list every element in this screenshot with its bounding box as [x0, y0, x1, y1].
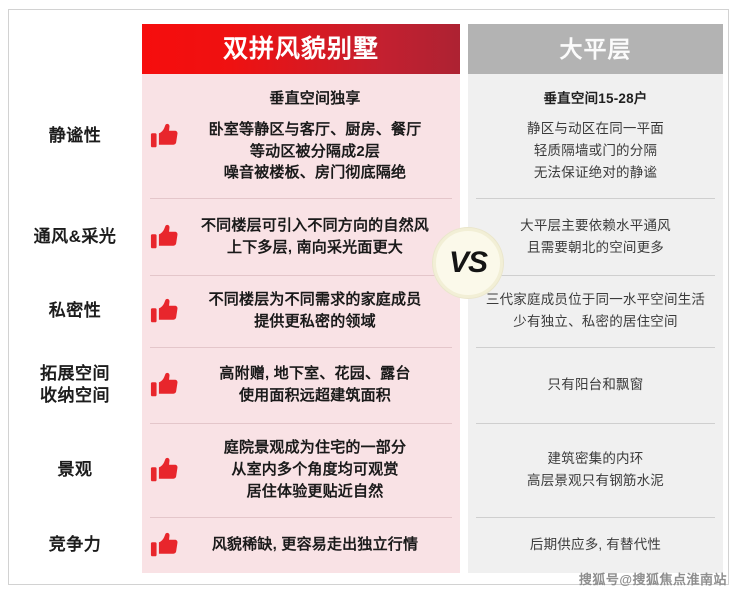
villa-row-separator [150, 198, 452, 199]
row-label: 景观 [8, 423, 142, 517]
row-label: 静谧性 [8, 74, 142, 198]
flat-column-title: 大平层 [560, 38, 632, 61]
villa-cell-line: 提供更私密的领域 [188, 311, 442, 333]
villa-cell-line: 等动区被分隔成2层 [188, 141, 442, 163]
flat-cell-line: 建筑密集的内环 [468, 448, 723, 470]
row-label-line: 竞争力 [49, 534, 102, 556]
villa-cell-text: 垂直空间独享卧室等静区与客厅、厨房、餐厅等动区被分隔成2层噪音被楼板、房门彻底隔… [188, 88, 460, 184]
thumbs-up-icon [142, 296, 188, 326]
flat-cell: 只有阳台和飘窗 [468, 347, 723, 423]
row-label: 通风&采光 [8, 198, 142, 275]
villa-cell-line: 使用面积远超建筑面积 [188, 385, 442, 407]
flat-cell-line: 少有独立、私密的居住空间 [468, 311, 723, 333]
thumbs-up-icon [142, 121, 188, 151]
comparison-row: 拓展空间收纳空间高附赠, 地下室、花园、露台使用面积远超建筑面积只有阳台和飘窗 [8, 347, 729, 423]
flat-cell: 三代家庭成员位于同一水平空间生活少有独立、私密的居住空间 [468, 275, 723, 347]
villa-column-header: 双拼风貌别墅 [142, 24, 460, 74]
flat-cell-text: 建筑密集的内环高层景观只有钢筋水泥 [468, 448, 723, 492]
row-label-line: 收纳空间 [40, 385, 110, 407]
flat-row-separator [476, 347, 715, 348]
flat-row-separator [476, 423, 715, 424]
vs-badge: VS [433, 228, 503, 298]
villa-cell-line: 居住体验更贴近自然 [188, 481, 442, 503]
flat-cell-text: 后期供应多, 有替代性 [468, 534, 723, 556]
villa-cell: 风貌稀缺, 更容易走出独立行情 [142, 517, 460, 573]
villa-cell-line: 庭院景观成为住宅的一部分 [188, 437, 442, 459]
comparison-row: 通风&采光不同楼层可引入不同方向的自然风上下多层, 南向采光面更大大平层主要依赖… [8, 198, 729, 275]
villa-cell-text: 不同楼层可引入不同方向的自然风上下多层, 南向采光面更大 [188, 215, 460, 259]
flat-cell-line: 轻质隔墙或门的分隔 [468, 140, 723, 162]
villa-row-separator [150, 423, 452, 424]
flat-cell-text: 大平层主要依赖水平通风且需要朝北的空间更多 [468, 215, 723, 259]
spacer [188, 110, 442, 119]
row-label-line: 私密性 [49, 300, 102, 322]
row-label-line: 通风&采光 [34, 226, 117, 248]
row-label-line: 拓展空间 [40, 363, 110, 385]
villa-cell-line: 上下多层, 南向采光面更大 [188, 237, 442, 259]
villa-cell: 不同楼层可引入不同方向的自然风上下多层, 南向采光面更大 [142, 198, 460, 275]
villa-cell: 垂直空间独享卧室等静区与客厅、厨房、餐厅等动区被分隔成2层噪音被楼板、房门彻底隔… [142, 74, 460, 198]
villa-cell-line: 噪音被楼板、房门彻底隔绝 [188, 162, 442, 184]
comparison-infographic: 双拼风貌别墅 大平层 静谧性垂直空间独享卧室等静区与客厅、厨房、餐厅等动区被分隔… [0, 0, 740, 602]
row-label-line: 景观 [58, 459, 93, 481]
vs-badge-label: VS [449, 248, 487, 278]
flat-cell-line: 三代家庭成员位于同一水平空间生活 [468, 289, 723, 311]
thumbs-up-icon [142, 530, 188, 560]
row-label-line: 静谧性 [49, 125, 102, 147]
villa-cell: 不同楼层为不同需求的家庭成员提供更私密的领域 [142, 275, 460, 347]
thumbs-up-icon [142, 222, 188, 252]
flat-cell-line: 静区与动区在同一平面 [468, 118, 723, 140]
comparison-row: 私密性不同楼层为不同需求的家庭成员提供更私密的领域三代家庭成员位于同一水平空间生… [8, 275, 729, 347]
flat-cell-line: 大平层主要依赖水平通风 [468, 215, 723, 237]
flat-cell-line: 且需要朝北的空间更多 [468, 237, 723, 259]
flat-cell: 建筑密集的内环高层景观只有钢筋水泥 [468, 423, 723, 517]
villa-cell-text: 庭院景观成为住宅的一部分从室内多个角度均可观赏居住体验更贴近自然 [188, 437, 460, 502]
villa-row-separator [150, 275, 452, 276]
thumbs-up-icon [142, 370, 188, 400]
villa-cell-line: 不同楼层可引入不同方向的自然风 [188, 215, 442, 237]
villa-cell-line: 风貌稀缺, 更容易走出独立行情 [188, 534, 442, 556]
villa-cell-line: 不同楼层为不同需求的家庭成员 [188, 289, 442, 311]
thumbs-up-icon [142, 455, 188, 485]
flat-cell-lead: 垂直空间15-28户 [468, 88, 723, 110]
flat-cell: 后期供应多, 有替代性 [468, 517, 723, 573]
flat-row-separator [476, 517, 715, 518]
flat-row-separator [476, 275, 715, 276]
flat-cell-line: 高层景观只有钢筋水泥 [468, 470, 723, 492]
villa-cell: 高附赠, 地下室、花园、露台使用面积远超建筑面积 [142, 347, 460, 423]
flat-cell-line: 只有阳台和飘窗 [468, 374, 723, 396]
row-label: 私密性 [8, 275, 142, 347]
row-label: 竞争力 [8, 517, 142, 573]
villa-cell: 庭院景观成为住宅的一部分从室内多个角度均可观赏居住体验更贴近自然 [142, 423, 460, 517]
watermark-text: 搜狐号@搜狐焦点淮南站 [579, 569, 727, 588]
flat-row-separator [476, 198, 715, 199]
flat-cell-line: 无法保证绝对的静谧 [468, 162, 723, 184]
comparison-row: 静谧性垂直空间独享卧室等静区与客厅、厨房、餐厅等动区被分隔成2层噪音被楼板、房门… [8, 74, 729, 198]
villa-row-separator [150, 347, 452, 348]
row-label: 拓展空间收纳空间 [8, 347, 142, 423]
villa-cell-text: 高附赠, 地下室、花园、露台使用面积远超建筑面积 [188, 363, 460, 407]
villa-cell-line: 从室内多个角度均可观赏 [188, 459, 442, 481]
flat-cell: 大平层主要依赖水平通风且需要朝北的空间更多 [468, 198, 723, 275]
villa-cell-lead: 垂直空间独享 [188, 88, 442, 110]
flat-cell-text: 垂直空间15-28户静区与动区在同一平面轻质隔墙或门的分隔无法保证绝对的静谧 [468, 88, 723, 183]
flat-cell-line: 后期供应多, 有替代性 [468, 534, 723, 556]
flat-cell-text: 三代家庭成员位于同一水平空间生活少有独立、私密的居住空间 [468, 289, 723, 333]
villa-row-separator [150, 517, 452, 518]
villa-cell-line: 卧室等静区与客厅、厨房、餐厅 [188, 119, 442, 141]
villa-cell-text: 不同楼层为不同需求的家庭成员提供更私密的领域 [188, 289, 460, 333]
comparison-row: 竞争力风貌稀缺, 更容易走出独立行情后期供应多, 有替代性 [8, 517, 729, 573]
comparison-row: 景观庭院景观成为住宅的一部分从室内多个角度均可观赏居住体验更贴近自然建筑密集的内… [8, 423, 729, 517]
villa-column-title: 双拼风貌别墅 [223, 37, 379, 62]
villa-cell-text: 风貌稀缺, 更容易走出独立行情 [188, 534, 460, 556]
flat-column-header: 大平层 [468, 24, 723, 74]
flat-cell: 垂直空间15-28户静区与动区在同一平面轻质隔墙或门的分隔无法保证绝对的静谧 [468, 74, 723, 198]
flat-cell-text: 只有阳台和飘窗 [468, 374, 723, 396]
villa-cell-line: 高附赠, 地下室、花园、露台 [188, 363, 442, 385]
